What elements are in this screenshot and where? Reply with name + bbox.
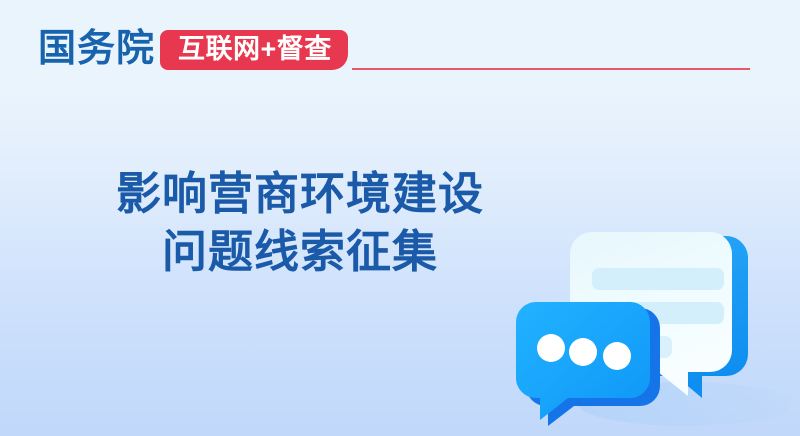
organization-name: 国务院 bbox=[38, 27, 155, 71]
campaign-badge-label: 互联网+督查 bbox=[178, 36, 332, 63]
promo-banner: 国务院 互联网+督查 影响营商环境建设 问题线索征集 bbox=[0, 0, 800, 436]
typing-dot-2 bbox=[569, 338, 597, 366]
chat-bubbles-illustration bbox=[490, 222, 790, 436]
back-bubble-line-1 bbox=[592, 268, 724, 290]
typing-dot-3 bbox=[603, 342, 631, 370]
campaign-badge: 互联网+督查 bbox=[160, 30, 348, 70]
page-title: 影响营商环境建设 问题线索征集 bbox=[60, 165, 540, 281]
page-title-line-1: 影响营商环境建设 bbox=[60, 165, 540, 223]
typing-dot-1 bbox=[537, 334, 565, 362]
page-title-line-2: 问题线索征集 bbox=[60, 223, 540, 281]
header-divider-rule bbox=[352, 68, 750, 70]
banner-header: 国务院 互联网+督查 bbox=[0, 0, 800, 100]
